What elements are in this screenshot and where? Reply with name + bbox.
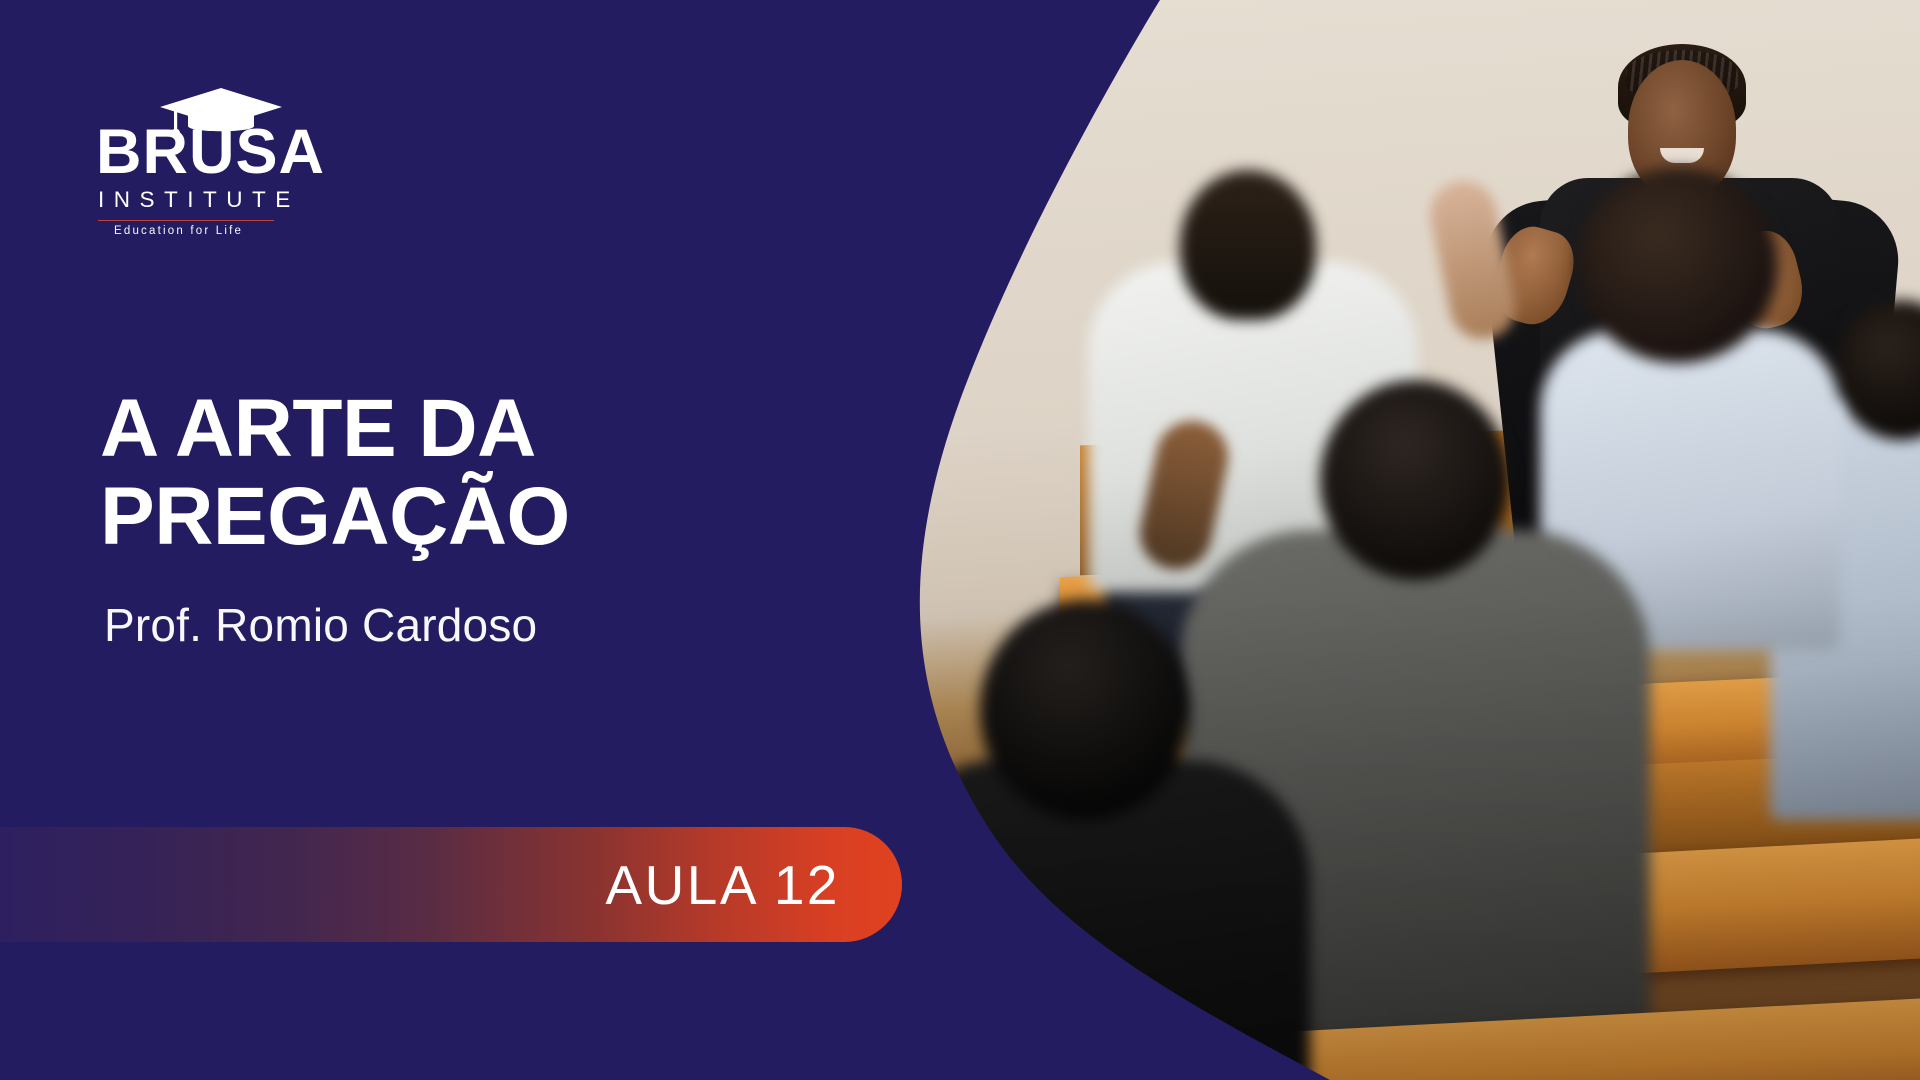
lesson-title-card: BRUSA INSTITUTE Education for Life A ART… xyxy=(0,0,1920,1080)
course-title-line-2: PREGAÇÃO xyxy=(100,473,860,562)
graduation-cap-icon xyxy=(158,86,356,140)
logo-tagline: Education for Life xyxy=(114,225,356,237)
instructor-name: Prof. Romio Cardoso xyxy=(104,598,537,652)
lesson-badge[interactable]: AULA 12 xyxy=(0,827,902,942)
course-title-line-1: A ARTE DA xyxy=(100,385,860,474)
course-title: A ARTE DA PREGAÇÃO xyxy=(100,385,860,562)
logo-institute-text: INSTITUTE xyxy=(98,187,356,213)
logo-divider xyxy=(98,220,274,222)
brusa-logo[interactable]: BRUSA INSTITUTE Education for Life xyxy=(96,86,356,237)
lesson-badge-label: AULA 12 xyxy=(605,853,840,917)
